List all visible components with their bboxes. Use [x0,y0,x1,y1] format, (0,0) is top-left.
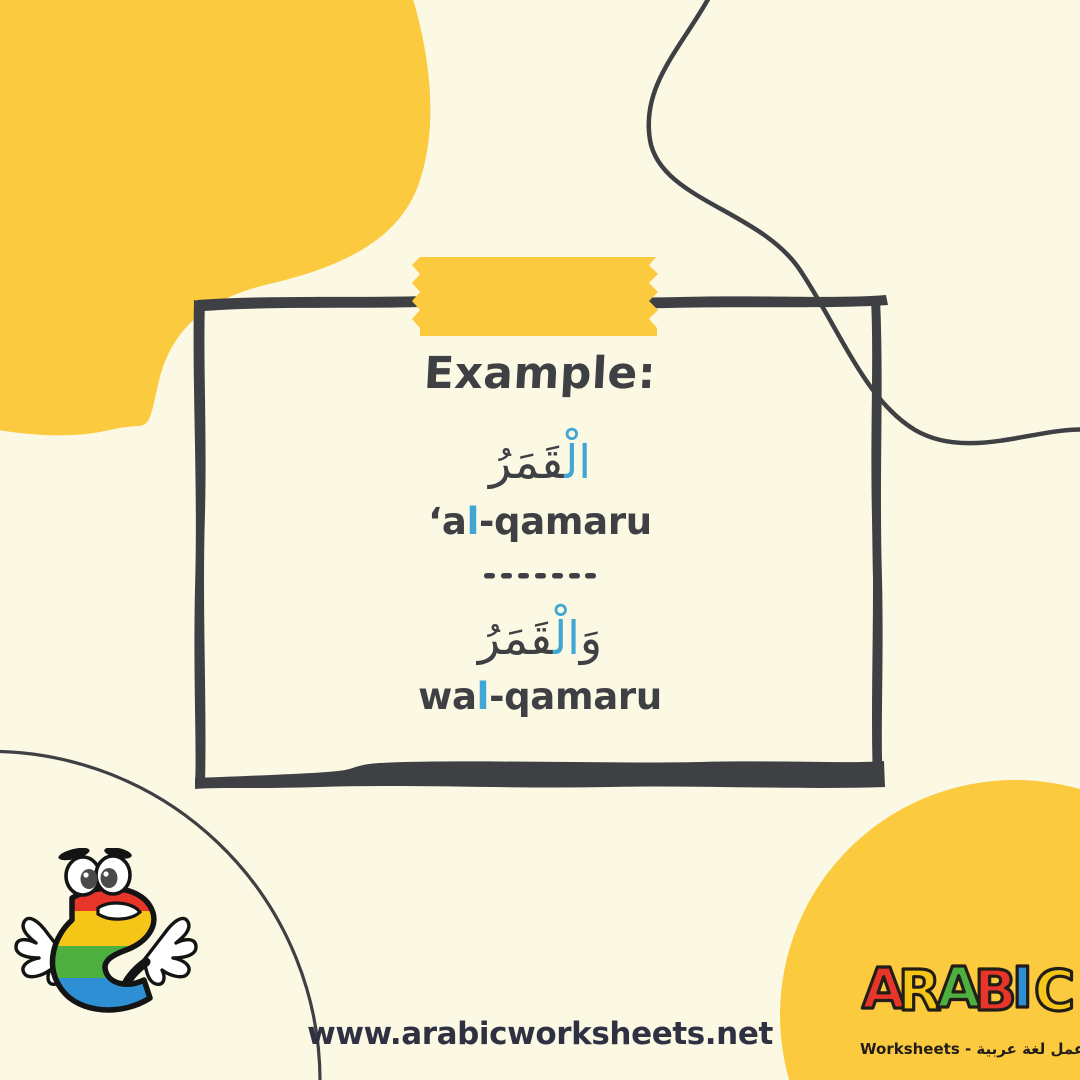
ayn-mascot-illustration [10,848,206,1038]
transliteration-2: wal-qamaru [418,675,662,718]
arabic-word-2-highlight: الْ [553,611,580,665]
logo-letter-c: C [1034,959,1075,1024]
transliteration-1-prefix: ʻa [428,500,466,543]
arabic-word-2: وَالْقَمَرُ [478,605,602,672]
example-card-content: Example: الْقَمَرُ ʻal-qamaru وَالْقَمَر… [195,300,885,780]
transliteration-1-suffix: -qamaru [479,500,652,543]
arabic-word-1: الْقَمَرُ [489,429,591,496]
arabic-word-1-highlight: الْ [564,435,591,489]
logo-letter-b: B [974,959,1017,1024]
transliteration-1-highlight: l [467,500,479,543]
page-title: Example: [423,348,658,399]
ayn-mascot [10,848,206,1038]
transliteration-2-prefix: wa [418,675,477,718]
arabic-word-2-rest: قَمَرُ [478,611,553,665]
logo-letter-r: R [898,959,941,1024]
transliteration-1: ʻal-qamaru [428,500,652,543]
logo-letter-i: I [1012,956,1033,1021]
arabic-word-1-rest: قَمَرُ [489,435,564,489]
dashed-divider [484,569,596,583]
poster-canvas: Example: الْقَمَرُ ʻal-qamaru وَالْقَمَر… [0,0,1080,1080]
website-url[interactable]: www.arabicworksheets.net [0,1016,1080,1052]
transliteration-2-highlight: l [477,675,489,718]
arabic-word-2-prefix: وَ [580,611,602,665]
transliteration-2-suffix: -qamaru [489,675,662,718]
mascot-mouth-icon [98,903,140,919]
